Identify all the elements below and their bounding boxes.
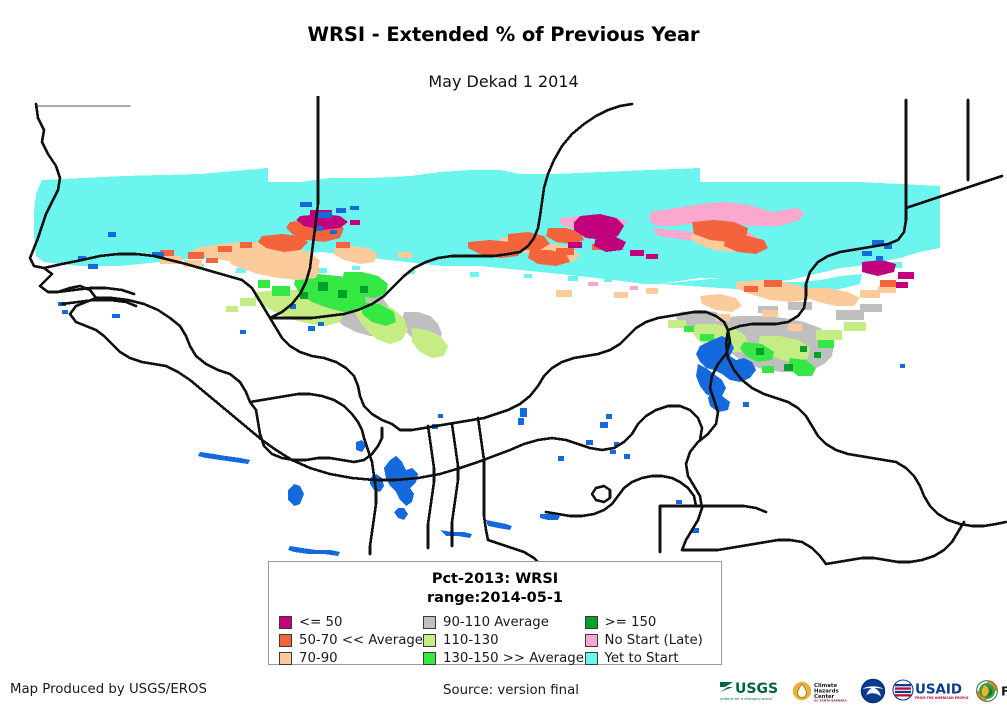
legend-item-50-70[interactable]: 50-70 << Average (279, 632, 423, 649)
legend-item-110-130[interactable]: 110-130 (423, 632, 585, 649)
logo-strip: USGS science for a changing world Climat… (719, 674, 1002, 708)
legend-swatch-130-150 (423, 652, 436, 665)
legend-column-1: <= 50 50-70 << Average 70-90 (279, 614, 423, 667)
legend-columns: <= 50 50-70 << Average 70-90 90-110 Aver… (269, 608, 721, 667)
legend-label-ge-150: >= 150 (605, 616, 657, 629)
legend-item-ge-150[interactable]: >= 150 (585, 614, 712, 631)
climate-hazards-center-logo: Climate Hazards Center UC SANTA BARBARA (792, 678, 854, 704)
legend-title-line1: Pct-2013: WRSI (269, 570, 721, 589)
svg-text:UC SANTA BARBARA: UC SANTA BARBARA (814, 699, 848, 703)
legend-swatch-70-90 (279, 652, 292, 665)
legend-item-le-50[interactable]: <= 50 (279, 614, 423, 631)
legend-label-50-70: 50-70 << Average (299, 634, 423, 647)
legend-label-70-90: 70-90 (299, 652, 338, 665)
svg-text:FEWS NET: FEWS NET (1001, 683, 1007, 698)
legend-swatch-110-130 (423, 634, 436, 647)
legend-label-130-150: 130-150 >> Average (443, 652, 584, 665)
usgs-logo: USGS science for a changing world (719, 678, 787, 704)
legend-swatch-yet-to-start (585, 652, 598, 665)
legend-swatch-90-110 (423, 616, 436, 629)
svg-text:science for a changing world: science for a changing world (720, 697, 772, 701)
footer-produced-by: Map Produced by USGS/EROS (10, 682, 207, 697)
legend-item-130-150[interactable]: 130-150 >> Average (423, 650, 585, 667)
page-subtitle: May Dekad 1 2014 (0, 72, 1007, 91)
legend-label-yet-to-start: Yet to Start (605, 652, 679, 665)
legend-swatch-50-70 (279, 634, 292, 647)
legend-column-2: 90-110 Average 110-130 130-150 >> Averag… (423, 614, 585, 667)
legend-label-110-130: 110-130 (443, 634, 499, 647)
legend-swatch-no-start-late (585, 634, 598, 647)
noaa-logo (859, 678, 887, 704)
legend-title-line2: range:2014-05-1 (269, 589, 721, 608)
map-canvas[interactable] (0, 96, 1007, 566)
legend-item-70-90[interactable]: 70-90 (279, 650, 423, 667)
usaid-logo: USAID FROM THE AMERICAN PEOPLE (892, 678, 970, 704)
map-figure: WRSI - Extended % of Previous Year May D… (0, 0, 1007, 715)
legend-item-yet-to-start[interactable]: Yet to Start (585, 650, 712, 667)
legend-column-3: >= 150 No Start (Late) Yet to Start (585, 614, 712, 667)
fews-net-logo: FEWS NET (975, 678, 1007, 704)
legend-title: Pct-2013: WRSI range:2014-05-1 (269, 562, 721, 608)
svg-text:FROM THE AMERICAN PEOPLE: FROM THE AMERICAN PEOPLE (915, 696, 969, 700)
legend-label-le-50: <= 50 (299, 616, 342, 629)
map-legend: Pct-2013: WRSI range:2014-05-1 <= 50 50-… (268, 561, 722, 665)
legend-label-90-110: 90-110 Average (443, 616, 549, 629)
footer-source: Source: version final (443, 683, 579, 698)
legend-label-no-start-late: No Start (Late) (605, 634, 703, 647)
page-title: WRSI - Extended % of Previous Year (0, 23, 1007, 46)
svg-text:USGS: USGS (735, 681, 778, 697)
legend-item-90-110[interactable]: 90-110 Average (423, 614, 585, 631)
legend-swatch-le-50 (279, 616, 292, 629)
legend-swatch-ge-150 (585, 616, 598, 629)
legend-item-no-start-late[interactable]: No Start (Late) (585, 632, 712, 649)
